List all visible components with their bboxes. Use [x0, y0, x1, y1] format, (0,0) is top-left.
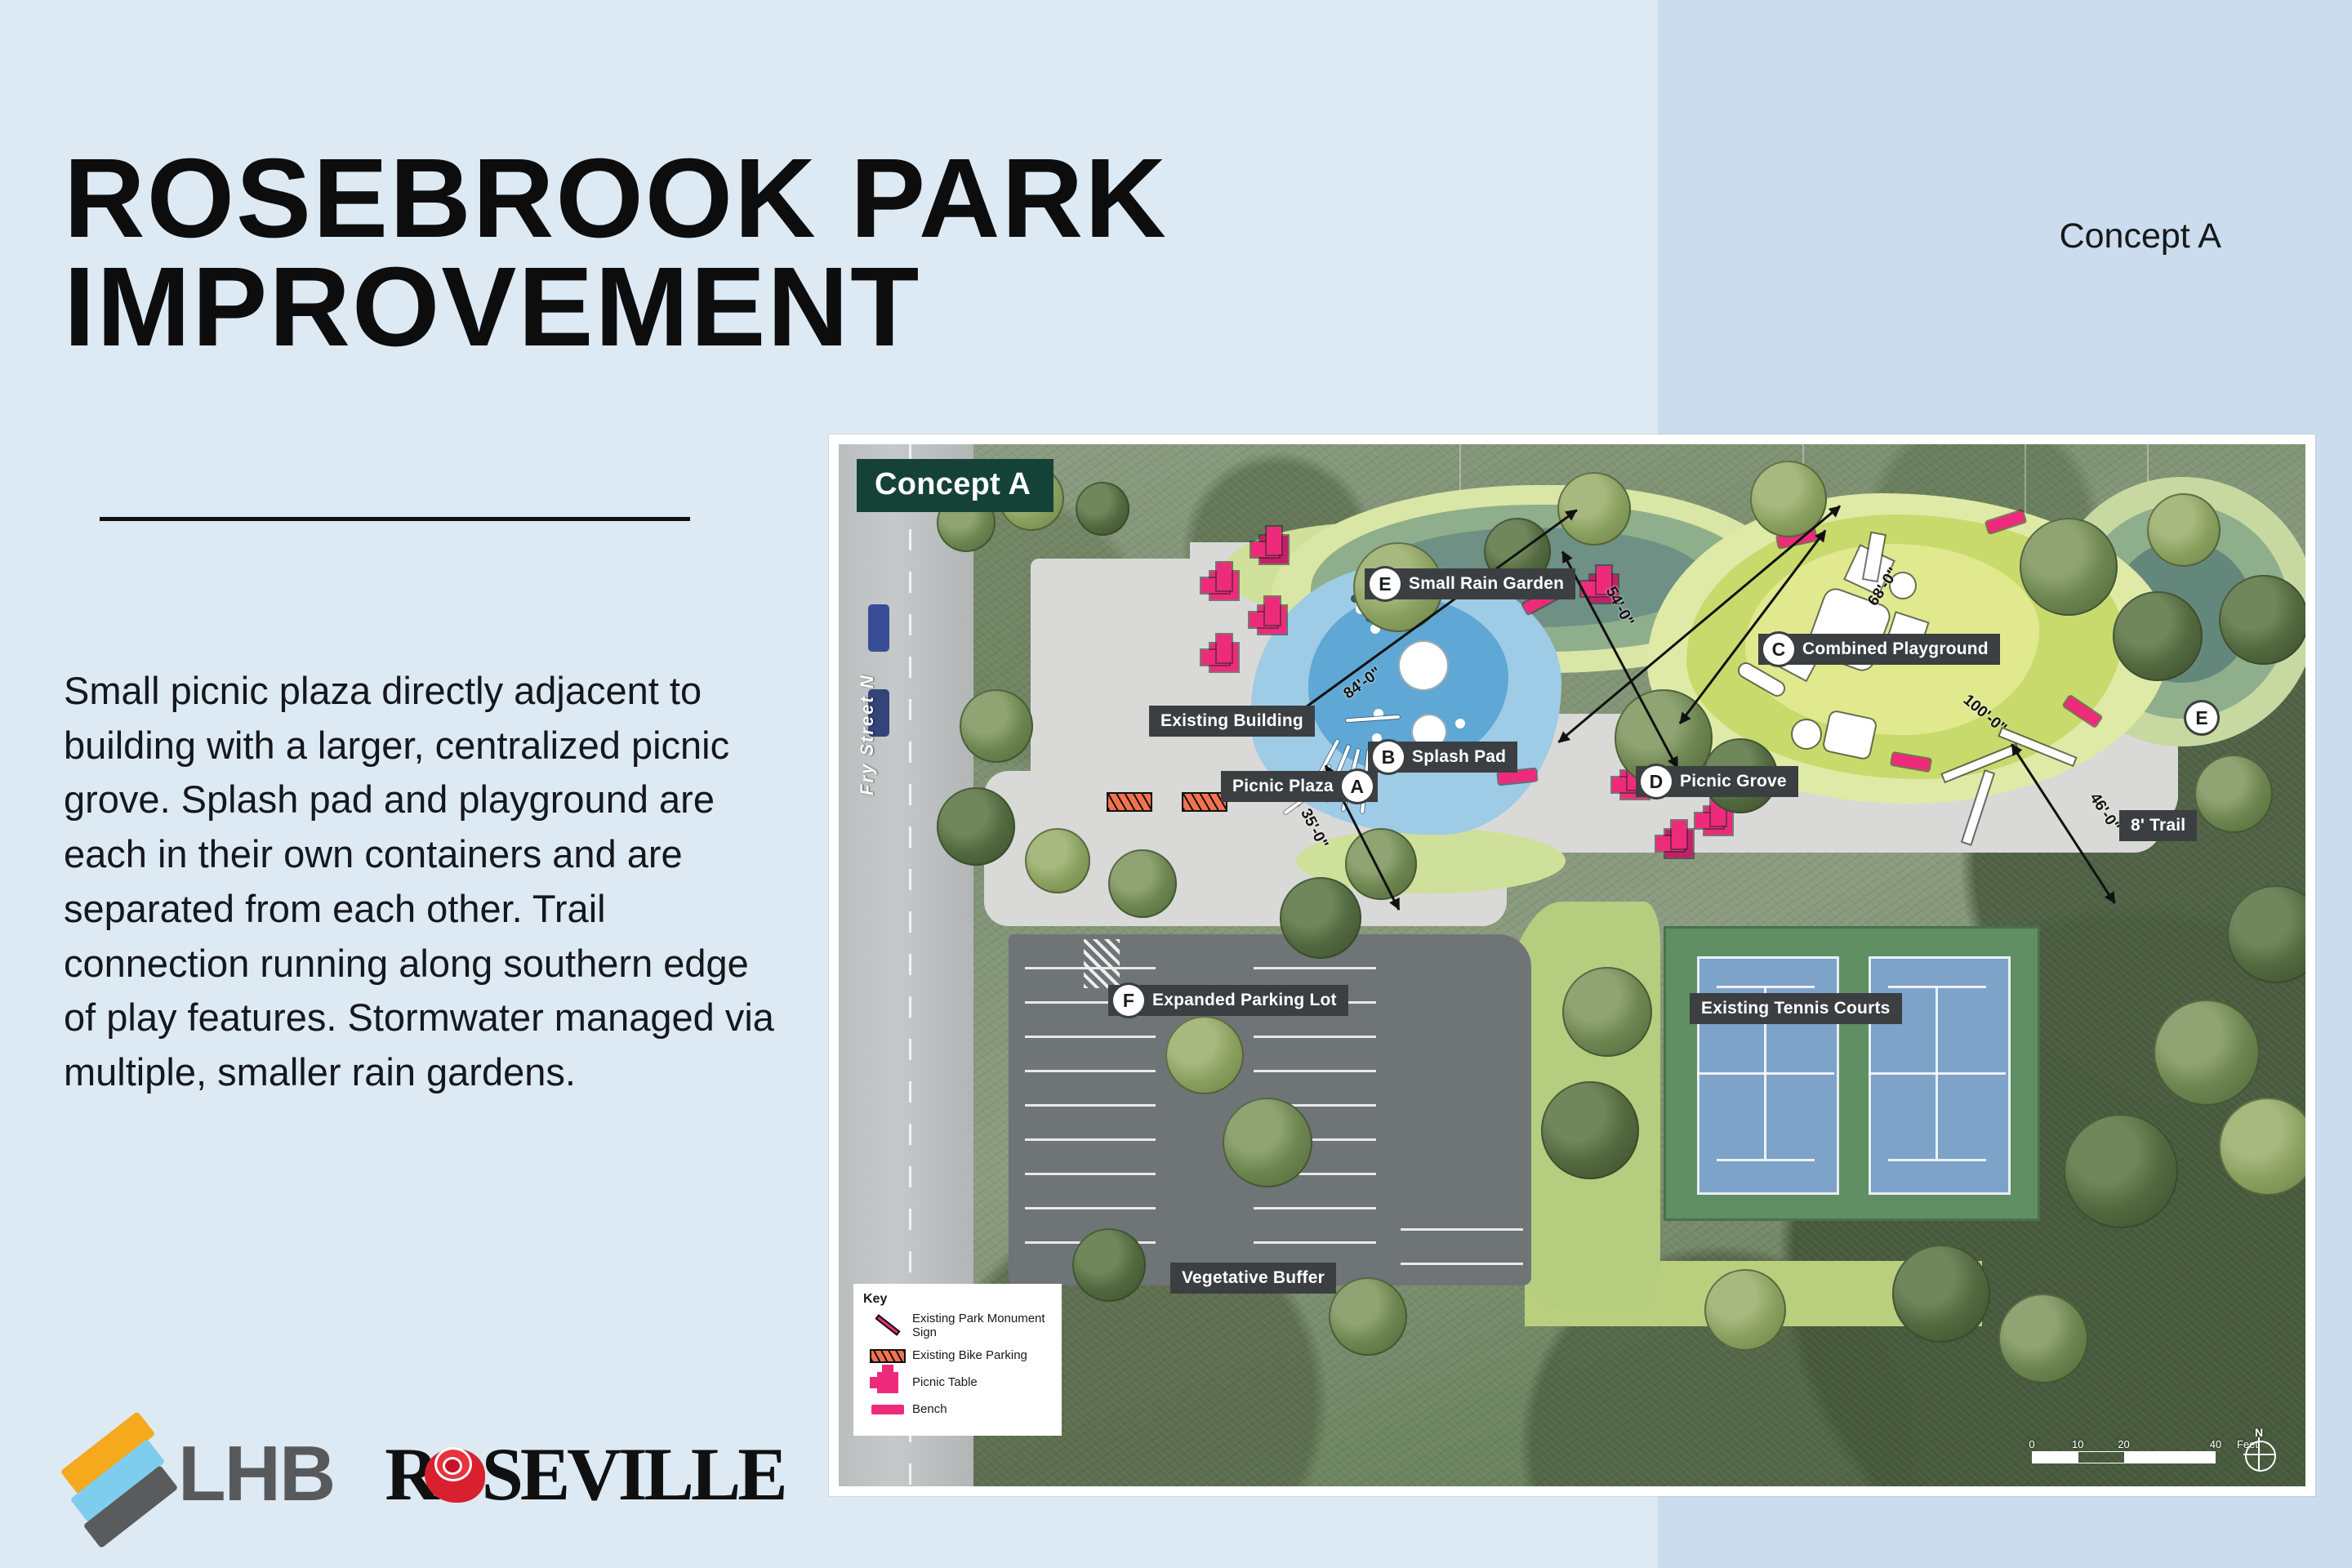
key-title: Key	[863, 1292, 1052, 1307]
map-label-text: Splash Pad	[1412, 747, 1506, 767]
rose-icon	[425, 1444, 485, 1504]
map-label-small-rain-garden[interactable]: E Small Rain Garden	[1365, 568, 1575, 599]
page-title: ROSEBROOK PARK IMPROVEMENT	[64, 145, 1664, 361]
key-item: Picnic Table	[863, 1372, 1052, 1393]
key-item-label: Existing Park Monument Sign	[912, 1312, 1052, 1340]
map-badge: C	[1763, 634, 1794, 665]
key-item-label: Bench	[912, 1402, 947, 1416]
bike-parking	[1107, 792, 1152, 812]
map-badge: B	[1373, 742, 1404, 773]
lhb-wordmark: LHB	[178, 1435, 334, 1513]
map-badge-solo-e[interactable]: E	[2186, 702, 2217, 733]
map-badge: D	[1641, 766, 1672, 797]
street-label: Fry Street N	[857, 674, 878, 795]
map-label-text: Expanded Parking Lot	[1152, 991, 1337, 1010]
key-item: Existing Bike Parking	[863, 1345, 1052, 1366]
scale-bar: 0 10 20 40 Feet	[2032, 1438, 2216, 1463]
picnic-table	[1210, 644, 1238, 671]
roseville-logo: R SEVILLE	[385, 1437, 784, 1512]
map-label-text: Vegetative Buffer	[1182, 1268, 1325, 1288]
parked-car	[868, 604, 889, 652]
key-item-label: Picnic Table	[912, 1375, 978, 1389]
map-badge: E	[1370, 568, 1401, 599]
map-label-text: Picnic Grove	[1680, 772, 1787, 791]
concept-banner: Concept A	[857, 459, 1053, 512]
north-arrow-icon: N	[2242, 1432, 2278, 1468]
picnic-table	[1260, 536, 1288, 563]
key-item: Bench	[863, 1399, 1052, 1420]
map-label-text: Small Rain Garden	[1409, 574, 1564, 594]
map-label-text: Combined Playground	[1802, 639, 1989, 659]
map-key: Key Existing Park Monument Sign Existing…	[853, 1284, 1062, 1437]
map-label-text: Existing Tennis Courts	[1701, 999, 1891, 1018]
map-label-existing-tennis-courts[interactable]: Existing Tennis Courts	[1690, 993, 1902, 1024]
key-item-label: Existing Bike Parking	[912, 1348, 1027, 1362]
splash-feature-disc	[1398, 640, 1449, 691]
map-label-text: Existing Building	[1160, 711, 1303, 731]
logo-row: LHB R SEVILLE	[64, 1425, 785, 1523]
key-item: Existing Park Monument Sign	[863, 1312, 1052, 1340]
map-label-splash-pad[interactable]: B Splash Pad	[1368, 742, 1517, 773]
map-label-expanded-parking-lot[interactable]: F Expanded Parking Lot	[1108, 985, 1348, 1016]
bike-parking-icon	[863, 1345, 912, 1366]
scale-tick: 0	[2029, 1438, 2034, 1450]
map-label-text: 8' Trail	[2131, 816, 2185, 835]
map-label-combined-playground[interactable]: C Combined Playground	[1758, 634, 2000, 665]
map-label-picnic-plaza[interactable]: A Picnic Plaza	[1221, 771, 1378, 802]
map-label-text: Picnic Plaza	[1232, 777, 1334, 796]
roseville-text: SEVILLE	[482, 1437, 785, 1512]
map-label-trail[interactable]: 8' Trail	[2119, 810, 2197, 841]
site-plan-map[interactable]: Fry Street N	[839, 444, 2305, 1486]
map-badge: F	[1113, 985, 1144, 1016]
picnic-table	[1665, 830, 1693, 857]
bench-icon	[863, 1399, 912, 1420]
picnic-table-icon	[863, 1372, 912, 1393]
divider-rule	[100, 517, 690, 521]
concept-tag: Concept A	[2060, 216, 2221, 256]
scale-tick: 20	[2118, 1438, 2129, 1450]
map-label-existing-building[interactable]: Existing Building	[1149, 706, 1315, 737]
play-structure	[1793, 720, 1820, 748]
monument-sign-icon	[863, 1315, 912, 1336]
picnic-table	[1258, 606, 1286, 634]
lhb-mark-icon	[64, 1430, 160, 1518]
scale-tick: 40	[2210, 1438, 2221, 1450]
map-label-picnic-grove[interactable]: D Picnic Grove	[1636, 766, 1798, 797]
map-label-vegetative-buffer[interactable]: Vegetative Buffer	[1170, 1263, 1336, 1294]
picnic-table	[1210, 572, 1238, 599]
description-text: Small picnic plaza directly adjacent to …	[64, 664, 782, 1100]
site-plan-panel[interactable]: Fry Street N	[829, 434, 2315, 1496]
map-badge: A	[1342, 771, 1373, 802]
tennis-courts	[1664, 926, 2040, 1221]
scale-tick: 10	[2072, 1438, 2083, 1450]
